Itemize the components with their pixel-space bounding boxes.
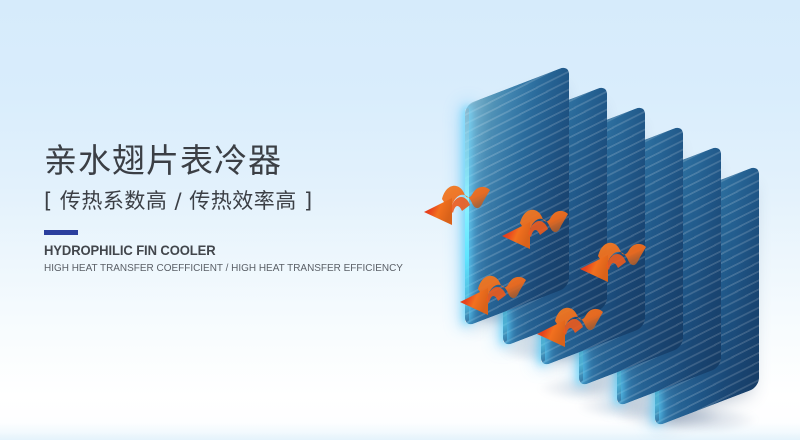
heat-flow-arrow-5	[535, 305, 607, 361]
heat-flow-arrow-4	[578, 240, 650, 296]
accent-divider	[44, 230, 78, 235]
page-subtitle: [ 传热系数高 / 传热效率高 ]	[44, 186, 464, 216]
heat-flow-arrow-2	[500, 207, 572, 263]
heat-flow-arrow-3	[458, 273, 530, 329]
page-title-english: HYDROPHILIC FIN COOLER	[44, 242, 435, 259]
page-subtitle-english: HIGH HEAT TRANSFER COEFFICIENT / HIGH HE…	[44, 261, 443, 276]
page-title: 亲水翅片表冷器	[44, 140, 464, 182]
headline-block: 亲水翅片表冷器 [ 传热系数高 / 传热效率高 ] HYDROPHILIC FI…	[44, 140, 464, 276]
promo-banner: 亲水翅片表冷器 [ 传热系数高 / 传热效率高 ] HYDROPHILIC FI…	[0, 0, 800, 440]
heat-flow-arrow-1	[422, 183, 494, 239]
fin-stack-illustration	[430, 55, 800, 415]
